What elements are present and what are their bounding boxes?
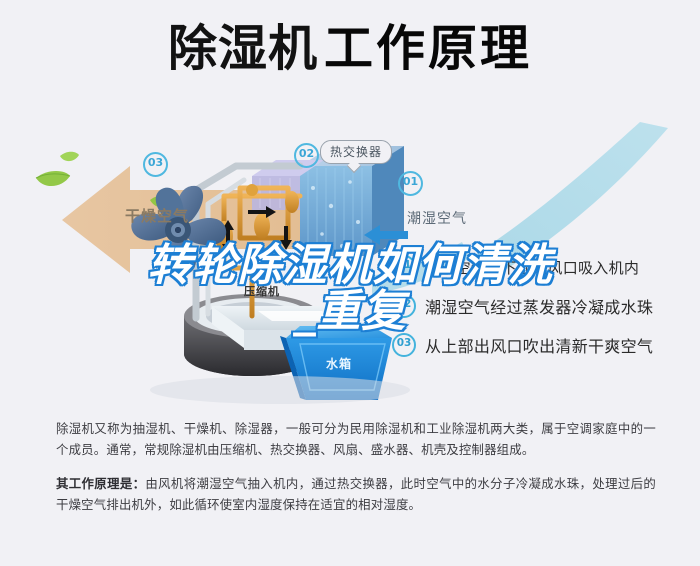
legend-badge-02: 02 (392, 294, 416, 318)
legend-item-01: 01 潮湿空气由下部进风口吸入机内 (392, 256, 692, 278)
legend-badge-01: 01 (392, 255, 416, 279)
legend-text-01: 潮湿空气由下部进风口吸入机内 (425, 257, 639, 278)
legend-item-02: 02 潮湿空气经过蒸发器冷凝成水珠 (392, 295, 692, 317)
marker-02-diagram: 02 (294, 143, 319, 168)
leaf-icon (60, 152, 79, 161)
label-water-tank: 水箱 (326, 355, 352, 372)
paragraph-2-lead: 其工作原理是： (56, 476, 145, 491)
leaf-icon (36, 171, 70, 186)
label-dry-air: 干燥空气 (125, 205, 189, 226)
paragraph-2: 其工作原理是：由风机将潮湿空气抽入机内，通过热交换器，此时空气中的水分子冷凝成水… (56, 473, 656, 515)
title-sub: 工作原理 (324, 20, 532, 77)
paragraph-1: 除湿机又称为抽湿机、干燥机、除湿器，一般可分为民用除湿机和工业除湿机两大类，属于… (56, 418, 656, 460)
evaporator-block (300, 166, 372, 256)
marker-01-diagram: 01 (398, 171, 423, 196)
legend-list: 01 潮湿空气由下部进风口吸入机内 02 潮湿空气经过蒸发器冷凝成水珠 03 从… (392, 256, 692, 373)
legend-item-03: 03 从上部出风口吹出清新干爽空气 (392, 334, 692, 356)
legend-badge-03: 03 (392, 333, 416, 357)
legend-text-03: 从上部出风口吹出清新干爽空气 (425, 333, 653, 357)
paragraph-2-rest: 由风机将潮湿空气抽入机内，通过热交换器，此时空气中的水分子冷凝成水珠，处理过后的… (56, 476, 656, 512)
page-title: 除湿机工作原理 (0, 24, 700, 73)
article-body: 除湿机又称为抽湿机、干燥机、除湿器，一般可分为民用除湿机和工业除湿机两大类，属于… (56, 418, 656, 515)
label-compressor: 压缩机 (244, 283, 280, 299)
marker-03-diagram: 03 (143, 152, 168, 177)
page-root: 除湿机工作原理 (0, 0, 700, 566)
label-humid-air: 潮湿空气 (407, 208, 467, 228)
legend-text-02: 潮湿空气经过蒸发器冷凝成水珠 (425, 294, 653, 318)
title-main: 除湿机 (168, 20, 318, 77)
label-heat-exchanger: 热交换器 (320, 140, 392, 164)
